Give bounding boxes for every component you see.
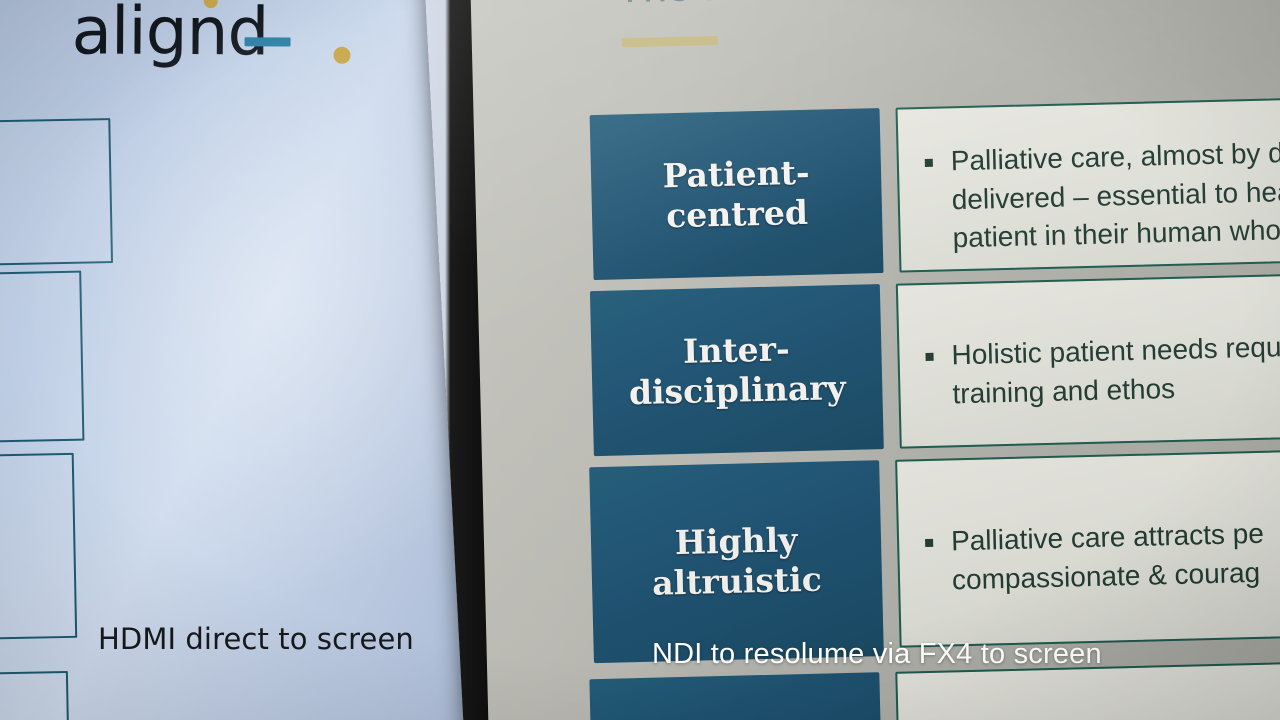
detail-box-2-text: Holistic patient needs requ training and… [951,328,1280,413]
concept-box-4 [589,672,882,720]
detail-box-1-bullet: Palliative care, almost by d delivered –… [924,132,1280,258]
title-accent-bar [622,36,718,47]
concept-box-2-label: Inter- disciplinary [627,328,846,412]
concept-box-1: Patient- centred [590,108,884,280]
alignd-wordmark: alignd [71,0,268,65]
detail-box-2: Holistic patient needs requ training and… [896,272,1280,448]
caption-ndi-resolume: NDI to resolume via FX4 to screen [652,638,1102,671]
logo-blue-dash-icon [245,37,291,46]
logo-gold-period-icon [333,47,350,64]
left-slide-box-4 [0,671,70,720]
concept-box-3-label: Highly altruistic [651,520,822,603]
detail-box-3: Palliative care attracts pe compassionat… [895,448,1280,647]
concept-box-2: Inter- disciplinary [590,284,884,456]
detail-box-2-bullet: Holistic patient needs requ training and… [925,326,1280,414]
left-slide-box-1: being see [0,118,113,269]
bullet-square-icon [925,159,933,167]
screenshot-stage: alignd being see nto the HDMI direct to … [0,0,1280,720]
detail-box-3-text: Palliative care attracts pe compassionat… [951,515,1266,600]
left-display-panel: alignd being see nto the [0,0,487,720]
alignd-logo: alignd [71,0,268,65]
bullet-square-icon [925,539,933,547]
detail-box-3-bullet: Palliative care attracts pe compassionat… [925,512,1280,600]
left-slide-box-4-text [0,699,60,704]
left-slide-box-2: nto the [0,271,84,446]
right-display-panel: The Poster Kid for Value-Based Patient- … [470,0,1280,720]
left-slide-box-3 [0,453,77,643]
caption-hdmi-direct: HDMI direct to screen [98,622,414,656]
detail-box-1-text: Palliative care, almost by d delivered –… [950,134,1280,258]
slide-title: The Poster Kid for Value-Based [616,0,1225,13]
left-slide-box-1-text: being see [0,146,104,218]
concept-box-3: Highly altruistic [589,460,884,663]
detail-box-1: Palliative care, almost by d delivered –… [895,96,1280,272]
concept-box-1-label: Patient- centred [662,153,811,236]
left-slide-box-2-text: nto the [0,327,75,365]
bullet-square-icon [925,353,933,361]
left-slide-box-3-text [0,481,66,486]
detail-box-4-bullet [924,696,1280,707]
